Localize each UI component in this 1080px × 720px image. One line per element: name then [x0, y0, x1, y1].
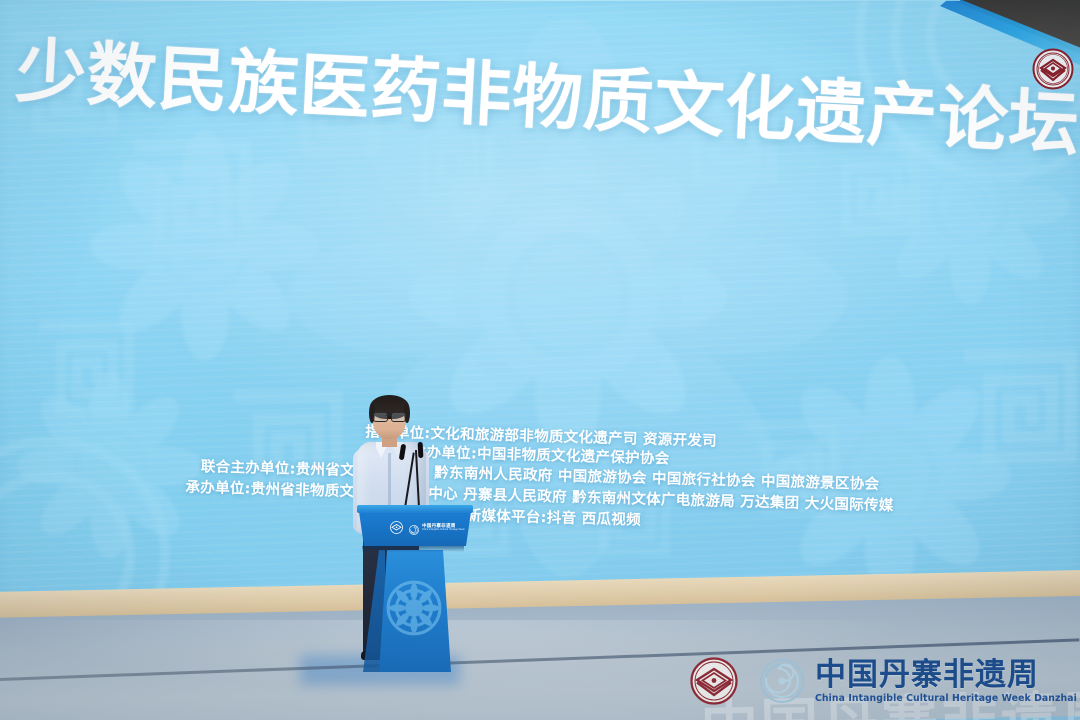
association-seal-icon	[690, 657, 738, 705]
brand-name-en: China Intangible Cultural Heritage Week …	[815, 693, 1077, 704]
event-brand-lockup: 中国丹寨非遗周 China Intangible Cultural Herita…	[690, 650, 1070, 712]
spiral-mark-icon	[760, 659, 804, 703]
podium-brand-lockup: 中国丹寨非遗周 China Intangible Cultural Herita…	[390, 519, 452, 535]
association-seal-icon	[1032, 48, 1074, 90]
speaker-glasses	[373, 412, 406, 420]
spiral-mark-icon	[409, 522, 419, 532]
brand-text-block: 中国丹寨非遗周 China Intangible Cultural Herita…	[815, 659, 1077, 704]
led-top-highlight	[0, 0, 960, 1]
stage-photo: 少数民族医药非物质文化遗产论坛 指导单位:文化和旅游部非物质文化遗产司 资源开发…	[0, 0, 1080, 720]
speaker-podium: 中国丹寨非遗周 China Intangible Cultural Herita…	[357, 505, 473, 673]
podium-brand-text: 中国丹寨非遗周 China Intangible Cultural Herita…	[422, 523, 465, 531]
association-seal-icon	[390, 521, 403, 534]
glasses-lens-left	[373, 412, 388, 422]
podium-brand-en: China Intangible Cultural Heritage Week	[422, 528, 465, 531]
podium-under-shadow	[362, 546, 464, 552]
brand-name-cn: 中国丹寨非遗周	[815, 659, 1077, 692]
podium-medallion-pattern	[383, 577, 445, 639]
microphone-head-right	[418, 442, 424, 458]
glasses-lens-right	[391, 412, 406, 422]
podium-top-surface	[357, 505, 473, 513]
